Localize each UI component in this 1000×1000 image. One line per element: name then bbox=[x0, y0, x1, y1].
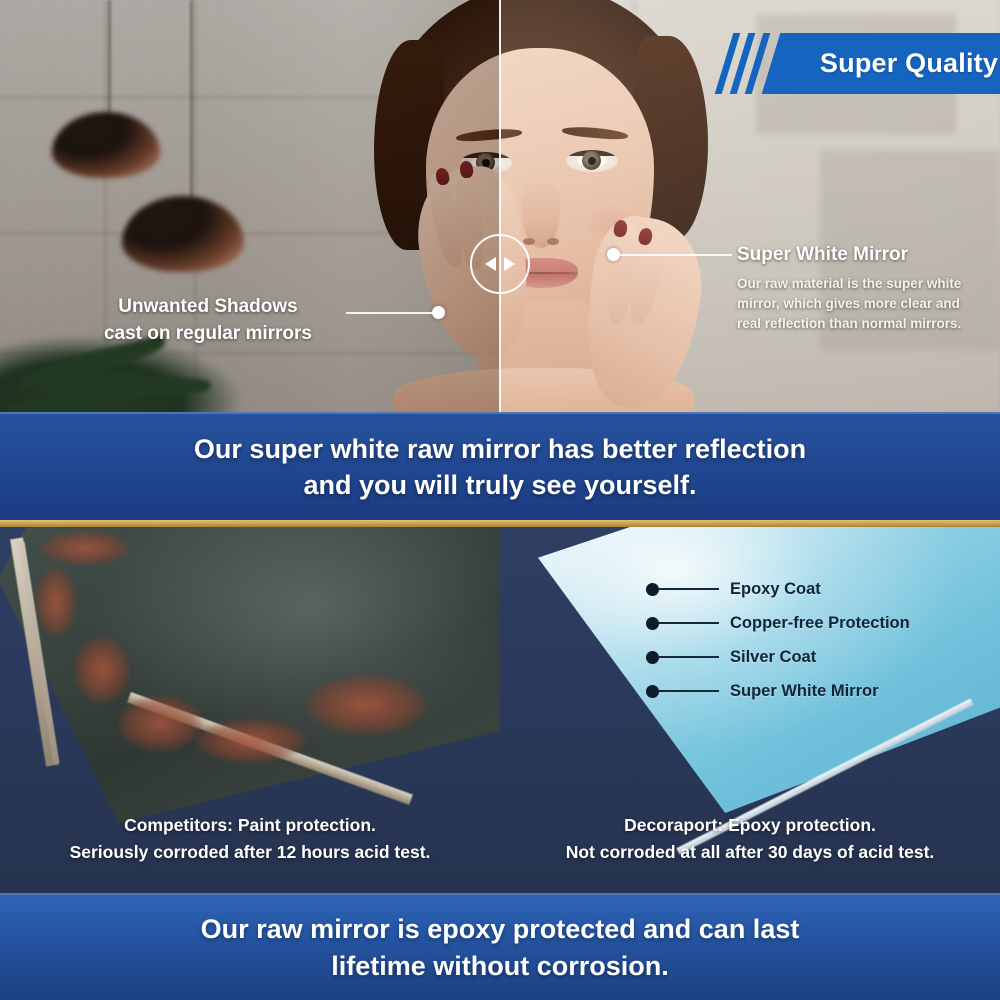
competitor-caption-line2: Seriously corroded after 12 hours acid t… bbox=[0, 839, 500, 866]
bottom-banner-line2: lifetime without corrosion. bbox=[331, 948, 669, 984]
callout-right-body: Our raw material is the super white mirr… bbox=[737, 274, 987, 335]
mid-banner-line2: and you will truly see yourself. bbox=[303, 468, 696, 504]
callout-super-white-mirror: Super White Mirror Our raw material is t… bbox=[737, 243, 987, 334]
layer-row: Super White Mirror bbox=[646, 674, 910, 708]
callout-unwanted-shadows: Unwanted Shadows cast on regular mirrors bbox=[58, 294, 358, 348]
layer-label: Silver Coat bbox=[730, 648, 816, 667]
mid-banner: Our super white raw mirror has better re… bbox=[0, 412, 1000, 522]
decoraport-caption-line2: Not corroded at all after 30 days of aci… bbox=[500, 839, 1000, 866]
rust-spot bbox=[36, 567, 76, 637]
layer-label: Super White Mirror bbox=[730, 682, 879, 701]
layer-dot-icon bbox=[646, 617, 659, 630]
rust-spot bbox=[196, 719, 306, 763]
before-after-split-line bbox=[499, 0, 501, 412]
callout-left-line1: Unwanted Shadows bbox=[58, 294, 358, 321]
rust-spot bbox=[40, 531, 130, 565]
layer-label: Copper-free Protection bbox=[730, 614, 910, 633]
mirror-layer-callouts: Epoxy Coat Copper-free Protection Silver… bbox=[646, 572, 910, 708]
badge-label: Super Quality bbox=[771, 33, 1000, 94]
rust-spot bbox=[118, 695, 202, 751]
layer-dot-icon bbox=[646, 583, 659, 596]
callout-leader-line bbox=[346, 312, 434, 314]
hero-photo-section: Super Quality Unwanted Shadows cast on r… bbox=[0, 0, 1000, 412]
callout-left-line2: cast on regular mirrors bbox=[58, 321, 358, 348]
rust-spot bbox=[74, 637, 130, 703]
rust-spot bbox=[306, 675, 426, 735]
layer-leader-line bbox=[659, 622, 719, 625]
product-infographic: Super Quality Unwanted Shadows cast on r… bbox=[0, 0, 1000, 1000]
layer-row: Silver Coat bbox=[646, 640, 910, 674]
layer-leader-line bbox=[659, 690, 719, 693]
layer-row: Copper-free Protection bbox=[646, 606, 910, 640]
layer-leader-line bbox=[659, 588, 719, 591]
layer-leader-line bbox=[659, 656, 719, 659]
layer-dot-icon bbox=[646, 651, 659, 664]
layer-label: Epoxy Coat bbox=[730, 580, 821, 599]
decoraport-caption: Decoraport: Epoxy protection. Not corrod… bbox=[500, 812, 1000, 866]
before-after-slider-handle-icon[interactable] bbox=[470, 234, 530, 294]
arrow-left-icon bbox=[485, 257, 496, 271]
competitor-caption-line1: Competitors: Paint protection. bbox=[0, 812, 500, 839]
before-side-shadow-overlay bbox=[0, 0, 500, 412]
gold-divider-strip bbox=[0, 520, 1000, 527]
arrow-right-icon bbox=[504, 257, 515, 271]
layer-row: Epoxy Coat bbox=[646, 572, 910, 606]
mid-banner-line1: Our super white raw mirror has better re… bbox=[194, 432, 806, 468]
bottom-banner: Our raw mirror is epoxy protected and ca… bbox=[0, 893, 1000, 1000]
decoraport-caption-line1: Decoraport: Epoxy protection. bbox=[500, 812, 1000, 839]
layer-dot-icon bbox=[646, 685, 659, 698]
callout-right-title: Super White Mirror bbox=[737, 243, 987, 268]
bottom-banner-line1: Our raw mirror is epoxy protected and ca… bbox=[201, 911, 800, 947]
callout-leader-line bbox=[618, 254, 732, 256]
competitor-caption: Competitors: Paint protection. Seriously… bbox=[0, 812, 500, 866]
